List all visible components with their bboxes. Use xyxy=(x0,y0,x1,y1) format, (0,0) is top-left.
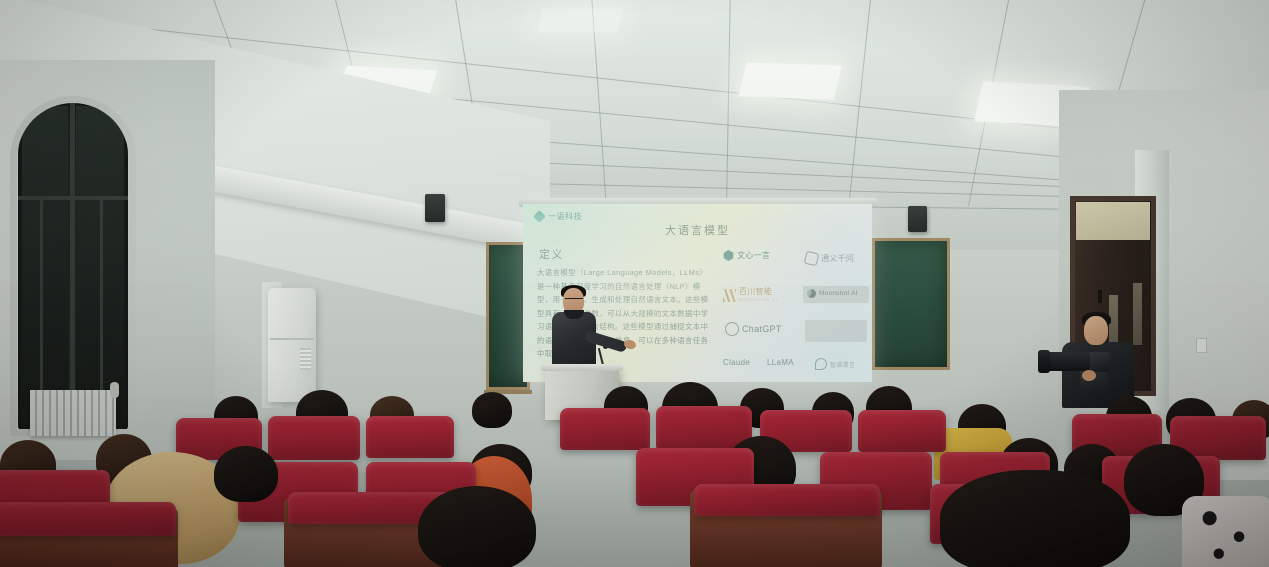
slide-brand-text: 一语科技 xyxy=(548,211,582,222)
slide-brand-logo: 一语科技 xyxy=(535,211,582,222)
wall-speaker-left xyxy=(425,194,445,222)
auditorium-seat[interactable] xyxy=(366,416,454,458)
patterned-coat xyxy=(1182,496,1269,567)
logo-llama: LLaMA xyxy=(767,358,794,367)
slide-section-heading: 定义 xyxy=(539,246,564,262)
zhipu-icon xyxy=(815,358,827,370)
logo-baichuan-ai: 百川智能 BAICHUAN AI xyxy=(723,286,778,304)
air-conditioner-seam xyxy=(270,338,314,340)
logo-label: 通义千问 xyxy=(821,253,854,264)
logo-label: Moonshot AI xyxy=(819,290,858,297)
logo-label: LLaMA xyxy=(767,358,794,367)
door-transom-window xyxy=(1076,202,1150,240)
blank-logo-placeholder-icon xyxy=(805,320,867,342)
logo-tongyi-qianwen: 通义千问 xyxy=(805,252,854,265)
auditorium-seat[interactable] xyxy=(268,416,360,460)
air-conditioner-vent xyxy=(300,348,311,370)
moonshot-icon xyxy=(807,289,816,298)
photographer-hand xyxy=(1082,370,1096,381)
audience-head-foreground xyxy=(214,446,278,502)
right-blackboard xyxy=(872,238,950,370)
auditorium-seat-near[interactable] xyxy=(694,484,880,516)
logo-label: 智谱清言 xyxy=(830,360,855,369)
logo-label: 百川智能 xyxy=(739,287,772,296)
radiator-pipe xyxy=(110,382,119,398)
logo-zhipu: 智谱清言 xyxy=(815,358,855,370)
model-logo-grid: 文心一言 通义千问 百川智能 BAICHUAN AI M xyxy=(719,248,869,378)
logo-chatgpt: ChatGPT xyxy=(725,322,782,336)
slide-title: 大语言模型 xyxy=(523,222,872,238)
logo-label: Claude xyxy=(723,358,750,367)
audience-head xyxy=(472,392,512,428)
baichuan-strokes-icon xyxy=(723,289,736,302)
tongyi-arrow-icon xyxy=(804,251,819,266)
logo-moonshot-ai: Moonshot AI xyxy=(807,289,858,298)
air-conditioner xyxy=(268,288,316,402)
logo-wenxin-yiyan: 文心一言 xyxy=(723,250,770,261)
audience-head-foreground xyxy=(418,486,536,567)
lecture-hall-photo: 一语科技 大语言模型 定义 大语言模型（Large Language Model… xyxy=(0,0,1269,567)
auditorium-seat[interactable] xyxy=(560,408,650,450)
camera-lens-icon xyxy=(1044,352,1090,371)
photographer-head xyxy=(1084,316,1108,345)
wenxin-hexagon-icon xyxy=(723,250,734,261)
door-handle[interactable] xyxy=(1098,290,1102,303)
logo-label: 文心一言 xyxy=(737,250,770,261)
auditorium-seat-near[interactable] xyxy=(0,502,176,536)
radiator xyxy=(30,390,116,436)
eyeglasses-icon xyxy=(565,298,583,303)
podium-top xyxy=(541,364,623,371)
auditorium-seat[interactable] xyxy=(858,410,946,452)
wall-speaker-right xyxy=(908,206,927,232)
logo-label: ChatGPT xyxy=(742,324,782,334)
photographer xyxy=(1042,312,1152,408)
light-switch[interactable] xyxy=(1196,338,1207,353)
audience-head-foreground xyxy=(940,470,1130,567)
openai-knot-icon xyxy=(725,322,739,336)
diamond-logo-icon xyxy=(533,210,546,223)
ceiling-panel-light xyxy=(537,8,623,32)
ceiling-panel-light xyxy=(738,62,842,99)
camera-lens-hood-icon xyxy=(1038,350,1050,373)
logo-sublabel: BAICHUAN AI xyxy=(739,296,778,304)
logo-claude: Claude xyxy=(723,358,750,367)
